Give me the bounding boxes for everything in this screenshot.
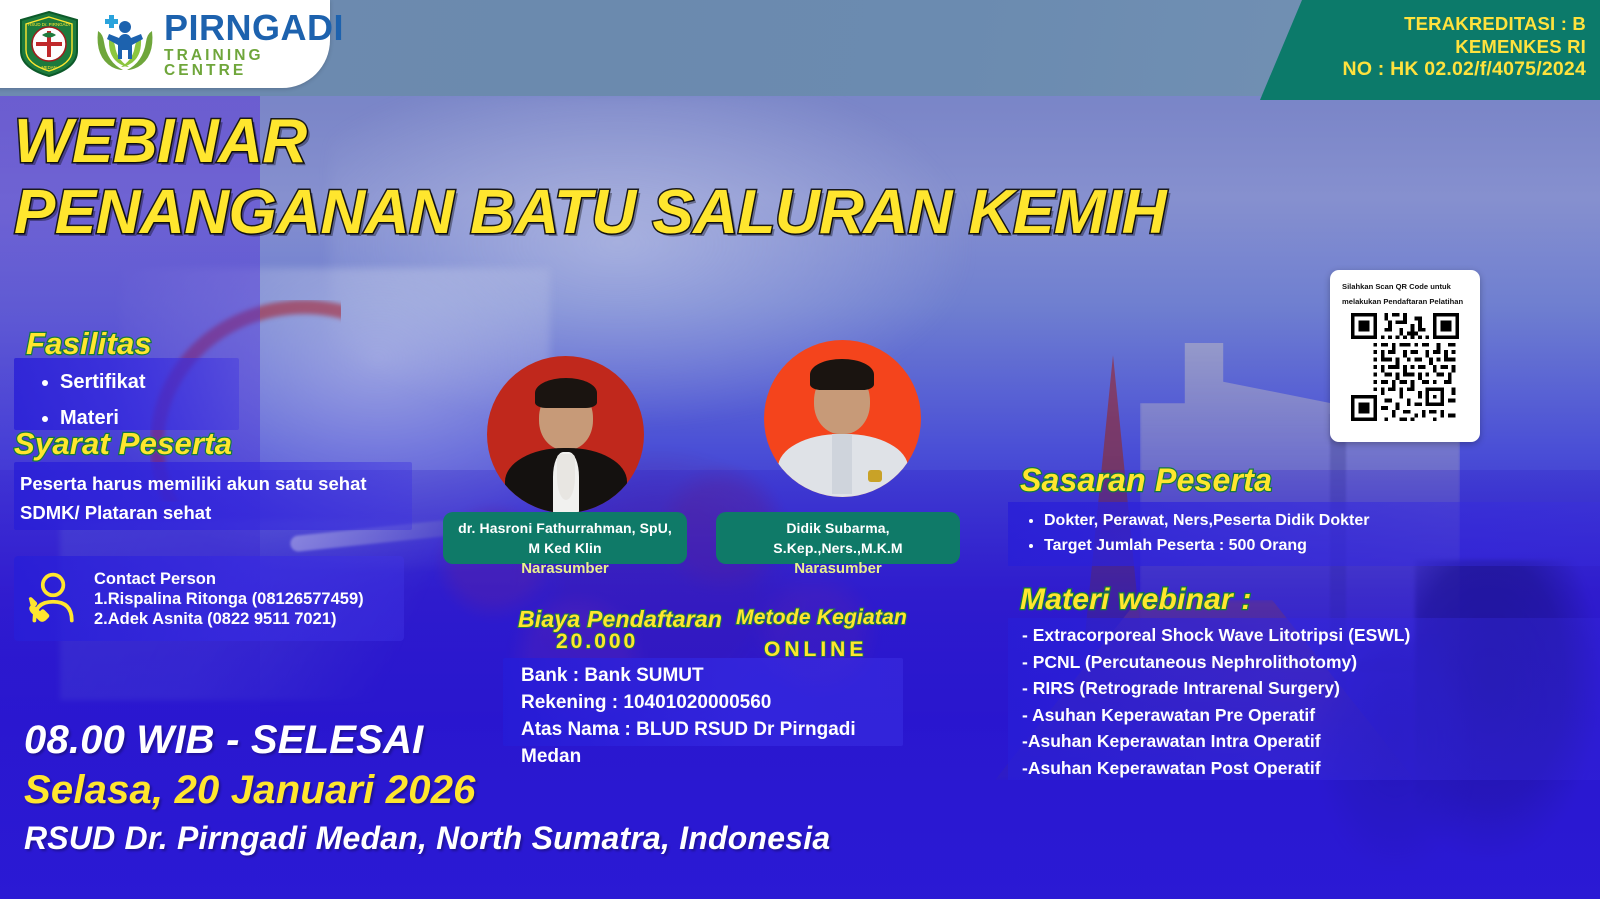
accreditation-line3: NO : HK 02.02/f/4075/2024 <box>1260 58 1586 81</box>
materi-webinar-heading: Materi webinar : <box>1020 583 1252 617</box>
logo-brand-line1: PIRNGADI <box>164 10 344 46</box>
bank-name: Bank : Bank SUMUT <box>503 658 903 689</box>
speaker-1-badge: dr. Hasroni Fathurrahman, SpU, M Ked Kli… <box>443 512 687 564</box>
title-line-2: PENANGANAN BATU SALURAN KEMIH <box>14 183 1314 244</box>
list-item: Sertifikat <box>60 364 239 400</box>
qr-caption-line-1: Silahkan Scan QR Code untuk <box>1338 278 1472 293</box>
svg-text:MEDAN: MEDAN <box>41 65 56 70</box>
poster-title: WEBINAR PENANGANAN BATU SALURAN KEMIH <box>14 112 1314 244</box>
list-item: - PCNL (Percutaneous Nephrolithotomy) <box>1008 649 1600 676</box>
list-item: -Asuhan Keperawatan Post Operatif <box>1008 755 1600 782</box>
list-item: - RIRS (Retrograde Intrarenal Surgery) <box>1008 675 1600 702</box>
speaker-1-photo <box>487 356 644 513</box>
speaker-2-photo <box>764 340 921 497</box>
speaker-1-role: Narasumber <box>453 558 677 580</box>
contact-phone-person-icon <box>14 570 94 628</box>
bank-details-panel: Bank : Bank SUMUT Rekening : 10401020000… <box>503 658 903 746</box>
accreditation-banner: TERAKREDITASI : B KEMENKES RI NO : HK 02… <box>1260 0 1600 100</box>
qr-code-icon[interactable] <box>1343 313 1467 421</box>
materi-webinar-panel: - Extracorporeal Shock Wave Litotripsi (… <box>1008 618 1600 780</box>
list-item: Target Jumlah Peserta : 500 Orang <box>1044 533 1600 558</box>
qr-caption-line-2: melakukan Pendaftaran Pelatihan <box>1338 293 1472 308</box>
syarat-peserta-text: Peserta harus memiliki akun satu sehat S… <box>14 462 412 527</box>
fasilitas-panel: Sertifikat Materi <box>14 358 239 430</box>
speaker-2-name: Didik Subarma, S.Kep.,Ners.,M.K.M <box>726 518 950 558</box>
svg-text:RSUD Dr. PIRNGADI: RSUD Dr. PIRNGADI <box>28 22 70 27</box>
accreditation-line1: TERAKREDITASI : B <box>1260 12 1586 35</box>
speaker-1-name: dr. Hasroni Fathurrahman, SpU, M Ked Kli… <box>453 518 677 558</box>
event-venue: RSUD Dr. Pirngadi Medan, North Sumatra, … <box>24 820 830 857</box>
rsud-crest-icon: RSUD Dr. PIRNGADI MEDAN <box>18 11 80 77</box>
contact-person-panel: Contact Person 1.Rispalina Ritonga (0812… <box>14 556 404 641</box>
syarat-peserta-panel: Peserta harus memiliki akun satu sehat S… <box>14 462 412 530</box>
metode-kegiatan-heading: Metode Kegiatan <box>736 606 907 630</box>
title-line-1: WEBINAR <box>14 112 1314 173</box>
list-item: Dokter, Perawat, Ners,Peserta Didik Dokt… <box>1044 508 1600 533</box>
webinar-poster: RSUD Dr. PIRNGADI MEDAN PIRNGADI TRAININ… <box>0 0 1600 899</box>
pirngadi-training-centre-logo: PIRNGADI TRAINING CENTRE <box>92 10 344 79</box>
logo-bar: RSUD Dr. PIRNGADI MEDAN PIRNGADI TRAININ… <box>0 0 330 88</box>
speaker-2-role: Narasumber <box>726 558 950 580</box>
syarat-peserta-heading: Syarat Peserta <box>14 426 232 462</box>
hands-figure-icon <box>92 13 158 75</box>
list-item: -Asuhan Keperawatan Intra Operatif <box>1008 728 1600 755</box>
bank-account-holder: Atas Nama : BLUD RSUD Dr Pirngadi Medan <box>503 716 903 770</box>
logo-brand-line2: TRAINING CENTRE <box>164 48 344 79</box>
speaker-2-badge: Didik Subarma, S.Kep.,Ners.,M.K.M Narasu… <box>716 512 960 564</box>
contact-line-1: 1.Rispalina Ritonga (08126577459) <box>94 589 364 609</box>
bank-account-number: Rekening : 10401020000560 <box>503 689 903 716</box>
accreditation-line2: KEMENKES RI <box>1260 35 1586 58</box>
sasaran-peserta-heading: Sasaran Peserta <box>1020 462 1272 499</box>
biaya-amount: 20.000 <box>556 630 638 654</box>
list-item: - Extracorporeal Shock Wave Litotripsi (… <box>1008 618 1600 649</box>
event-time: 08.00 WIB - SELESAI <box>24 718 423 763</box>
biaya-pendaftaran-heading: Biaya Pendaftaran <box>518 606 722 633</box>
qr-registration-card[interactable]: Silahkan Scan QR Code untuk melakukan Pe… <box>1330 270 1480 442</box>
event-date: Selasa, 20 Januari 2026 <box>24 768 476 813</box>
list-item: - Asuhan Keperawatan Pre Operatif <box>1008 702 1600 729</box>
sasaran-peserta-panel: Dokter, Perawat, Ners,Peserta Didik Dokt… <box>1008 502 1600 566</box>
fasilitas-heading: Fasilitas <box>26 326 152 362</box>
contact-title: Contact Person <box>94 569 364 589</box>
contact-line-2: 2.Adek Asnita (0822 9511 7021) <box>94 609 364 629</box>
